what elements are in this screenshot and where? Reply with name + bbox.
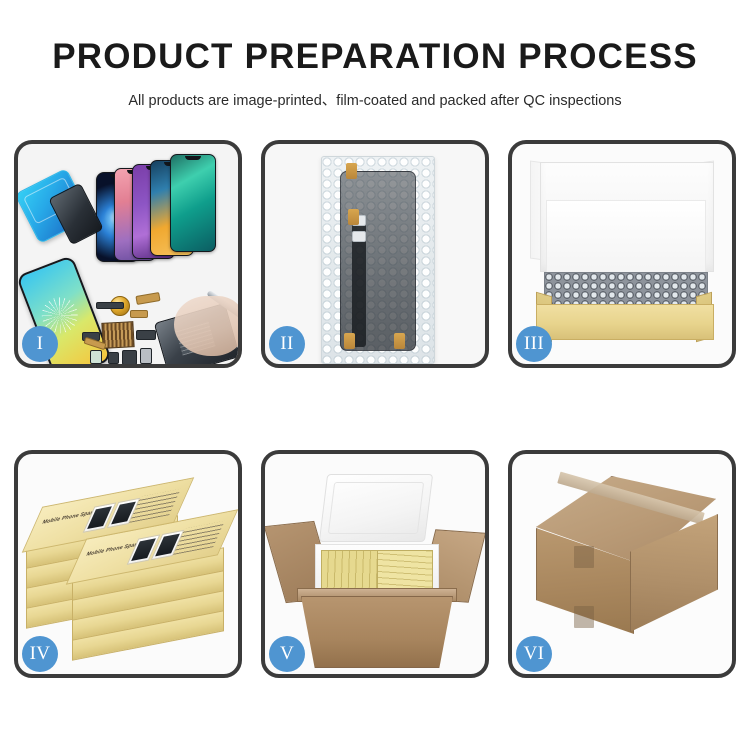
- process-step-bubble-wrapped-screen: II: [261, 140, 489, 368]
- carton-label-tab-icon: [574, 606, 594, 628]
- box-stack-icon: Mobile Phone Spare Parts Mobile Phone Sp…: [26, 474, 230, 660]
- header: PRODUCT PREPARATION PROCESS All products…: [0, 38, 750, 110]
- chip-array-icon: [101, 321, 134, 349]
- step-badge-6: VI: [516, 636, 552, 672]
- step-badge-4: IV: [22, 636, 58, 672]
- process-step-foam-lined-inner-box: III: [508, 140, 736, 368]
- component-icon: [96, 302, 124, 309]
- flex-cable-icon: [135, 292, 160, 305]
- tape-tab-icon: [346, 163, 357, 179]
- kraft-box-front-icon: [536, 304, 714, 340]
- bubble-wrap-bag-icon: [321, 156, 435, 364]
- step-badge-3: III: [516, 326, 552, 362]
- component-icon: [122, 350, 137, 364]
- tape-tab-icon: [348, 209, 359, 225]
- phone-lineup-icon: [96, 152, 238, 262]
- product-preparation-infographic: PRODUCT PREPARATION PROCESS All products…: [0, 0, 750, 750]
- process-step-sealed-shipping-carton: VI: [508, 450, 736, 678]
- step-badge-1: I: [22, 326, 58, 362]
- foam-sheet-icon: [546, 200, 706, 276]
- phone-notch-icon: [185, 156, 201, 160]
- process-step-grid: I II: [14, 140, 736, 678]
- carton-label-tab-icon: [574, 546, 594, 568]
- box-spec-lines-icon: [173, 521, 225, 555]
- box-spec-lines-icon: [129, 489, 181, 523]
- page-subtitle: All products are image-printed、film-coat…: [0, 89, 750, 110]
- step-badge-2: II: [269, 326, 305, 362]
- phone-teal-icon: [170, 154, 216, 252]
- process-step-printed-boxes-stack: Mobile Phone Spare Parts Mobile Phone Sp…: [14, 450, 242, 678]
- tape-tab-icon: [344, 333, 355, 349]
- tape-tab-icon: [394, 333, 405, 349]
- component-icon: [136, 330, 156, 340]
- flex-cable-icon: [130, 310, 148, 318]
- component-icon: [140, 348, 152, 364]
- foam-cooler-lid-icon: [319, 474, 433, 542]
- connector-icon: [352, 231, 366, 242]
- process-step-parts-and-screens: I: [14, 140, 242, 368]
- packed-boxes-icon: [377, 550, 433, 590]
- page-title: PRODUCT PREPARATION PROCESS: [0, 38, 750, 77]
- carton-front-icon: [301, 596, 453, 668]
- step-badge-5: V: [269, 636, 305, 672]
- component-icon: [90, 350, 102, 364]
- process-step-foam-cooler-in-carton: V: [261, 450, 489, 678]
- component-icon: [108, 352, 119, 364]
